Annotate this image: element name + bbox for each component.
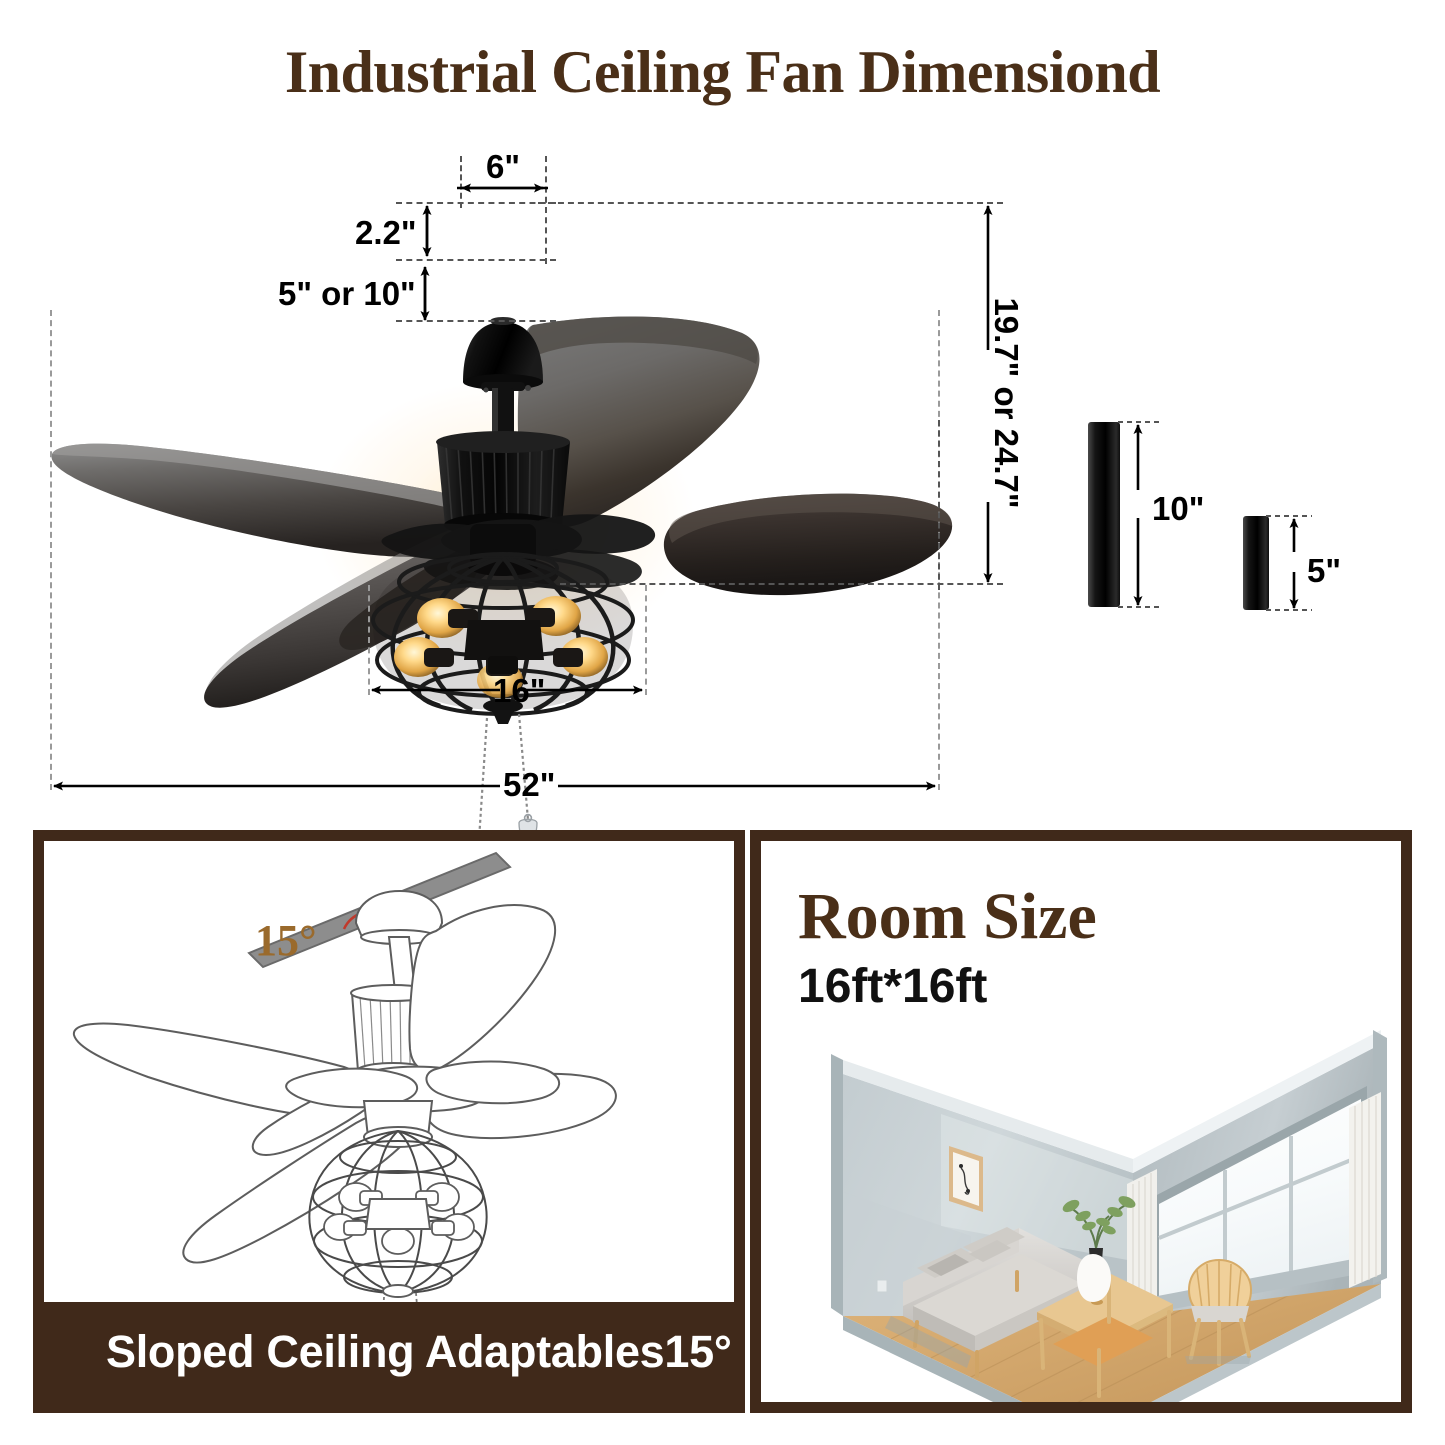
dim-downrod-short: 5"	[1307, 552, 1341, 590]
wall-art	[949, 1146, 983, 1212]
sloped-ceiling-panel: Sloped Ceiling Adaptables15°	[33, 830, 745, 1413]
room-size-value: 16ft*16ft	[798, 959, 987, 1014]
room-illustration	[821, 1016, 1401, 1411]
dim-downrod-long: 10"	[1152, 490, 1204, 528]
product-dimension-infographic: Industrial Ceiling Fan Dimensiond	[0, 0, 1445, 1445]
room-size-title: Room Size	[798, 879, 1097, 955]
table-lamp	[1077, 1254, 1111, 1302]
room-size-panel: Room Size 16ft*16ft	[750, 830, 1412, 1413]
page-title: Industrial Ceiling Fan Dimensiond	[0, 38, 1445, 107]
isometric-room-svg	[821, 1016, 1401, 1411]
slope-angle-label: 15°	[255, 915, 317, 966]
curtain-right	[1349, 1092, 1381, 1288]
sloped-fan-lineart	[44, 841, 734, 1311]
dimension-diagram: 6" 2.2" 5" or 10" 19.7" or 24.7" 16" 52"…	[0, 120, 1445, 830]
sloped-ceiling-illustration	[44, 841, 734, 1311]
downrod-arrows	[0, 120, 1445, 830]
sloped-ceiling-caption: Sloped Ceiling Adaptables15°	[44, 1302, 734, 1402]
